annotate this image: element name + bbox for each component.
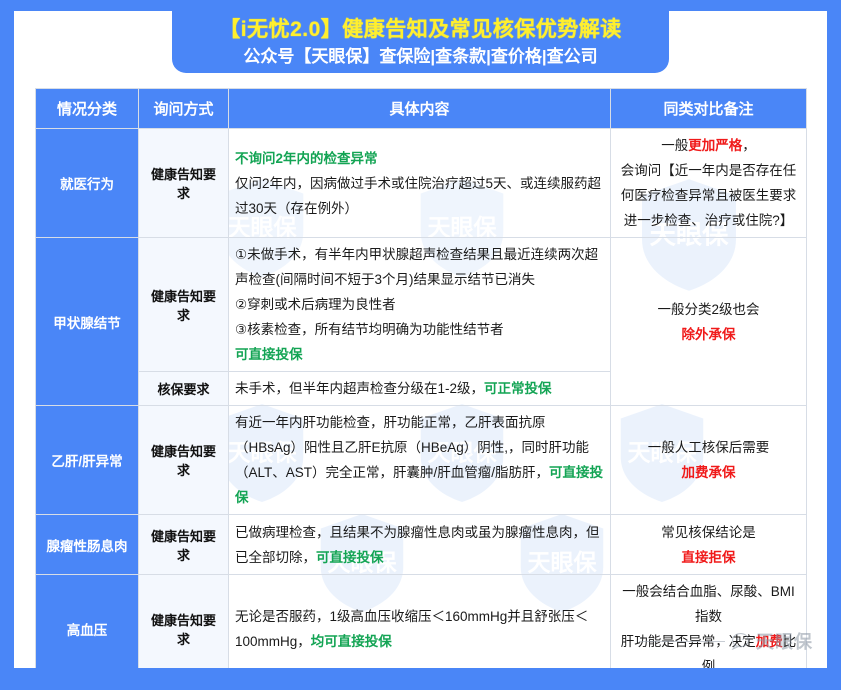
row-detail: 已做病理检查，且结果不为腺瘤性息肉或虽为腺瘤性息肉，但已全部切除，可直接投保 (229, 515, 611, 575)
title-banner: 【i无忧2.0】健康告知及常见核保优势解读 公众号【天眼保】查保险|查条款|查价… (172, 11, 669, 73)
row-category: 腺瘤性肠息肉 (36, 515, 139, 575)
row-ask-method: 健康告知要求 (139, 406, 229, 515)
row-ask-method: 健康告知要求 (139, 238, 229, 372)
page-canvas: 天眼保 天眼保 天眼保 天眼保 天眼保 天眼保 天眼保 天眼保 天眼保 【i无忧… (14, 11, 827, 668)
comparison-table: 情况分类 询问方式 具体内容 同类对比备注 就医行为 健康告知要求 不询问2年内… (35, 88, 807, 668)
row-detail: ①未做手术，有半年内甲状腺超声检查结果且最近连续两次超声检查(间隔时间不短于3个… (229, 238, 611, 372)
row-note: 常见核保结论是直接拒保 (611, 515, 807, 575)
account-logo-label: 天眼保 (756, 628, 813, 654)
col-header-ask-method: 询问方式 (139, 89, 229, 129)
col-header-detail: 具体内容 (229, 89, 611, 129)
row-note: 一般人工核保后需要加费承保 (611, 406, 807, 515)
table-body: 就医行为 健康告知要求 不询问2年内的检查异常仅问2年内，因病做过手术或住院治疗… (36, 129, 807, 669)
comparison-table-wrapper: 情况分类 询问方式 具体内容 同类对比备注 就医行为 健康告知要求 不询问2年内… (35, 88, 806, 668)
row-category: 高血压 (36, 575, 139, 669)
row-note: 一般更加严格，会询问【近一年内是否存在任何医疗检查异常且被医生要求进一步检查、治… (611, 129, 807, 238)
page-title: 【i无忧2.0】健康告知及常见核保优势解读 (172, 16, 669, 44)
row-note: 一般分类2级也会除外承保 (611, 238, 807, 406)
col-header-category: 情况分类 (36, 89, 139, 129)
row-detail: 无论是否服药，1级高血压收缩压＜160mmHg并且舒张压＜100mmHg，均可直… (229, 575, 611, 669)
row-detail: 有近一年内肝功能检查，肝功能正常，乙肝表面抗原（HBsAg）阳性且乙肝E抗原（H… (229, 406, 611, 515)
table-row: 乙肝/肝异常 健康告知要求 有近一年内肝功能检查，肝功能正常，乙肝表面抗原（HB… (36, 406, 807, 515)
row-category: 乙肝/肝异常 (36, 406, 139, 515)
table-row: 腺瘤性肠息肉 健康告知要求 已做病理检查，且结果不为腺瘤性息肉或虽为腺瘤性息肉，… (36, 515, 807, 575)
row-ask-method: 健康告知要求 (139, 515, 229, 575)
row-ask-method: 健康告知要求 (139, 129, 229, 238)
table-row: 就医行为 健康告知要求 不询问2年内的检查异常仅问2年内，因病做过手术或住院治疗… (36, 129, 807, 238)
row-category: 甲状腺结节 (36, 238, 139, 406)
table-header-row: 情况分类 询问方式 具体内容 同类对比备注 (36, 89, 807, 129)
table-row: 甲状腺结节 健康告知要求 ①未做手术，有半年内甲状腺超声检查结果且最近连续两次超… (36, 238, 807, 372)
speech-bubble-icon (730, 632, 751, 650)
row-category: 就医行为 (36, 129, 139, 238)
row-detail: 不询问2年内的检查异常仅问2年内，因病做过手术或住院治疗超过5天、或连续服药超过… (229, 129, 611, 238)
page-subtitle: 公众号【天眼保】查保险|查条款|查价格|查公司 (172, 44, 669, 69)
row-ask-method: 健康告知要求 (139, 575, 229, 669)
row-ask-method: 核保要求 (139, 372, 229, 406)
row-detail: 未手术，但半年内超声检查分级在1-2级，可正常投保 (229, 372, 611, 406)
divider-line (639, 641, 725, 642)
account-logo: 天眼保 (639, 628, 813, 654)
col-header-note: 同类对比备注 (611, 89, 807, 129)
